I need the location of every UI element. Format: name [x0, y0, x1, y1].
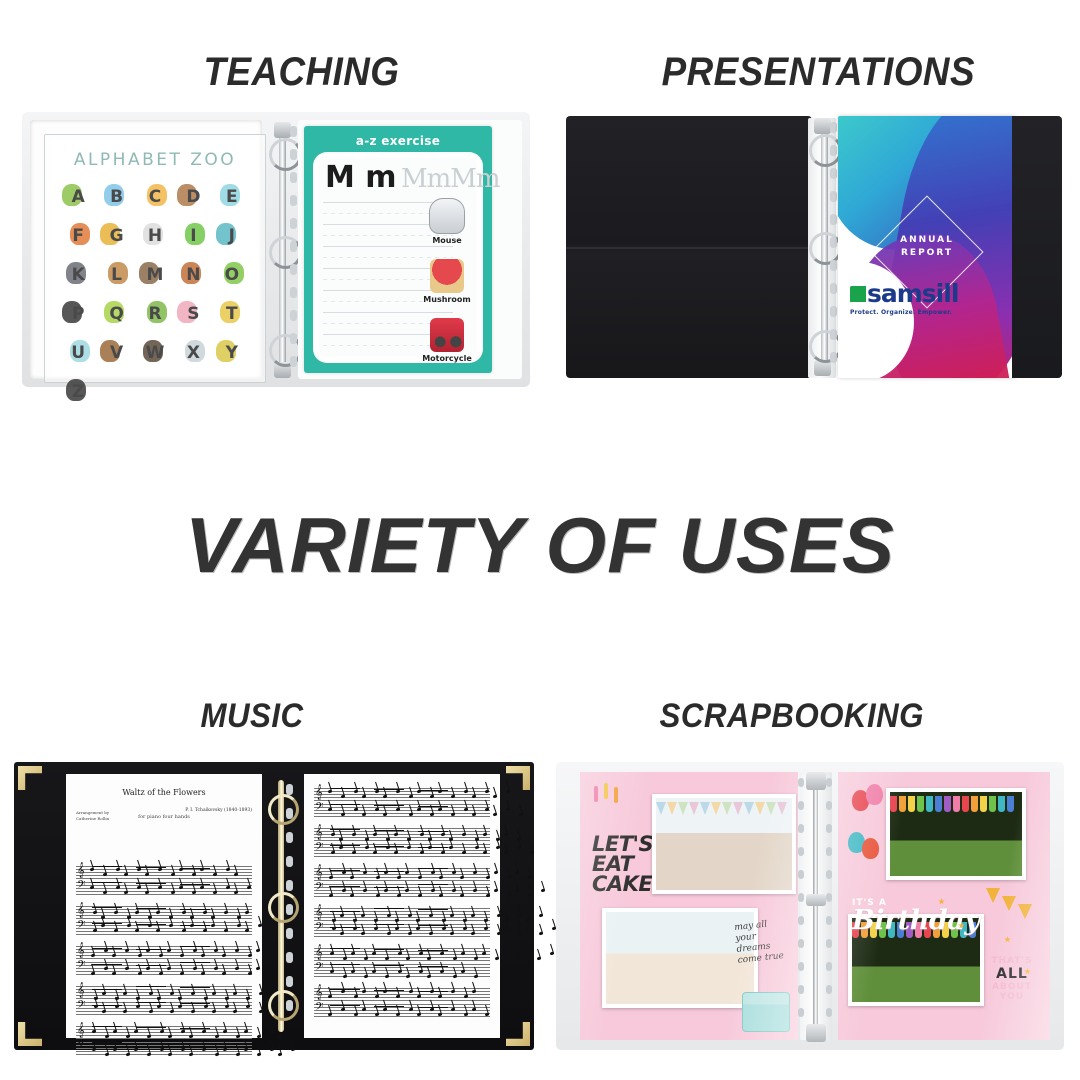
treble-clef-icon: 𝄞: [77, 944, 85, 957]
punch-hole: [830, 191, 837, 202]
binder-ring-3: [268, 990, 299, 1021]
punch-hole: [286, 808, 293, 819]
note-head: [331, 833, 335, 837]
scrapbook-page-right: IT'S A Birthday THAT'S ALL ABOUT YOU: [838, 772, 1050, 1040]
note-beam: [92, 1042, 122, 1043]
note-head: [409, 813, 413, 817]
note-head: [167, 967, 171, 971]
note-head: [494, 889, 498, 893]
punch-hole: [830, 145, 837, 156]
note-head: [463, 927, 467, 931]
note-head: [429, 914, 433, 918]
note-head: [438, 1013, 442, 1017]
note-head: [159, 954, 163, 958]
note-head: [341, 795, 345, 799]
note-head: [291, 1048, 295, 1052]
note-head: [245, 911, 249, 915]
note-beam: [330, 1005, 360, 1006]
note-head: [441, 851, 445, 855]
note-beam: [92, 1005, 122, 1006]
staff-system: 𝄞𝄢: [314, 988, 490, 1022]
staff-system: 𝄞𝄢: [314, 788, 490, 822]
note-head: [486, 876, 490, 880]
page-punch-holes: [286, 784, 294, 1031]
punch-hole: [830, 283, 837, 294]
alphabet-letter: U: [71, 343, 85, 363]
note-head: [398, 970, 402, 974]
punch-hole: [798, 847, 804, 856]
note-head: [398, 952, 402, 956]
samsill-logo-mark-icon: [850, 286, 866, 302]
note-head: [362, 1008, 366, 1012]
note-head: [192, 873, 196, 877]
alphabet-cell-x: X: [175, 334, 211, 371]
note-beam: [374, 830, 404, 831]
note-head: [168, 1053, 172, 1057]
bass-staff: 𝄢: [314, 1004, 490, 1017]
note-head: [156, 929, 160, 933]
note-head: [331, 851, 335, 855]
alphabet-letter-grid: ABCDEFGHIJKLMNOPQRSTUVWXYZ: [52, 170, 258, 410]
note-beam: [92, 866, 122, 867]
note-head: [91, 954, 95, 958]
punch-hole: [830, 352, 837, 363]
binder-ring-1: [268, 794, 299, 825]
note-head: [430, 813, 434, 817]
headline-line-3: CAKE: [592, 874, 653, 894]
bass-staff: 𝄢: [76, 922, 252, 935]
alphabet-cell-w: W: [137, 334, 173, 371]
bunting-flag: [722, 802, 732, 815]
note-head: [427, 957, 431, 961]
note-group: [86, 883, 248, 894]
ring-lever-top[interactable]: [814, 118, 831, 134]
punch-hole: [826, 893, 832, 902]
note-beam: [180, 884, 210, 885]
samsill-wordmark: samsill: [867, 279, 958, 308]
note-group: [324, 845, 486, 856]
punch-hole: [826, 847, 832, 856]
note-beam: [92, 882, 122, 883]
music-binder: Waltz of the Flowers for piano four hand…: [14, 762, 534, 1050]
its-a-birthday-badge: IT'S A Birthday: [852, 898, 979, 934]
alphabet-letter: Y: [226, 343, 238, 363]
page-punch-holes: [290, 126, 298, 373]
mushroom-icon: [430, 259, 464, 293]
note-head: [430, 795, 434, 799]
balloon-sticker-2: [866, 784, 883, 805]
punch-hole: [826, 824, 832, 833]
note-beam: [92, 948, 122, 949]
staff-system: 𝄞𝄢: [314, 948, 490, 982]
vocab-item-motorcycle: Motorcycle: [419, 318, 475, 363]
treble-clef-icon: 𝄞: [77, 984, 85, 997]
note-beam: [330, 989, 360, 990]
bunting-flag: [766, 802, 776, 815]
alphabet-zoo-poster: ALPHABET ZOO ABCDEFGHIJKLMNOPQRSTUVWXYZ: [52, 140, 258, 376]
note-head: [328, 995, 332, 999]
note-beam: [374, 965, 404, 966]
note-beam: [136, 908, 166, 909]
note-head: [439, 876, 443, 880]
alphabet-letter: J: [229, 226, 235, 246]
note-head: [114, 911, 118, 915]
note-head: [182, 911, 186, 915]
note-head: [235, 949, 239, 953]
note-head: [178, 1005, 182, 1009]
note-beam: [180, 1028, 210, 1029]
note-head: [429, 932, 433, 936]
note-beam: [418, 925, 448, 926]
alphabet-cell-d: D: [175, 178, 211, 215]
note-beam: [136, 986, 166, 987]
note-head: [92, 1030, 96, 1034]
note-head: [226, 886, 230, 890]
note-head: [237, 924, 241, 928]
page-punch-holes: [794, 778, 840, 1034]
punch-hole: [290, 126, 297, 137]
punch-hole: [830, 237, 837, 248]
note-head: [474, 975, 478, 979]
note-group: [324, 1005, 486, 1016]
punch-hole: [798, 893, 804, 902]
tassel: [971, 796, 978, 812]
cake-sticker-icon: [742, 992, 790, 1032]
note-head: [179, 886, 183, 890]
note-head: [373, 833, 377, 837]
tassel: [935, 796, 942, 812]
note-head: [419, 952, 423, 956]
treble-staff: 𝄞: [314, 868, 490, 881]
bunting-flag: [700, 802, 710, 815]
note-head: [354, 808, 358, 812]
note-head: [103, 891, 107, 895]
note-head: [203, 929, 207, 933]
alphabet-letter: Z: [72, 382, 84, 402]
bass-staff: 𝄢: [76, 962, 252, 975]
note-beam: [374, 924, 404, 925]
punch-hole: [798, 870, 804, 879]
annual-report-cover: ANNUAL REPORT samsill Protect. Organize.…: [838, 116, 1016, 378]
alphabet-letter: D: [186, 187, 200, 207]
note-head: [125, 967, 129, 971]
staff-system: 𝄞𝄢: [76, 986, 252, 1020]
music-ring-mechanism[interactable]: [260, 770, 304, 1042]
dreams-script-note: may all your dreams come true: [734, 917, 794, 967]
note-head: [373, 851, 377, 855]
note-head: [135, 911, 139, 915]
main-headline: VARIETY OF USES: [0, 500, 1080, 591]
note-beam: [418, 790, 448, 791]
note-beam: [330, 927, 360, 928]
note-head: [102, 1010, 106, 1014]
tassel: [1007, 796, 1014, 812]
note-head: [493, 813, 497, 817]
headline-line-2: EAT: [592, 854, 653, 874]
note-head: [364, 975, 368, 979]
note-head: [394, 833, 398, 837]
vocab-label: Motorcycle: [419, 354, 475, 363]
bass-staff: 𝄢: [76, 1042, 252, 1055]
note-head: [116, 868, 120, 872]
note-head: [351, 952, 355, 956]
note-head: [278, 1053, 282, 1057]
bass-clef-icon: 𝄢: [315, 802, 323, 815]
note-head: [146, 967, 150, 971]
note-head: [420, 851, 424, 855]
bass-clef-icon: 𝄢: [77, 1000, 85, 1013]
treble-clef-icon: 𝄞: [315, 986, 323, 999]
candle-decoration-1: [594, 786, 598, 802]
note-beam: [136, 1002, 166, 1003]
note-head: [189, 1053, 193, 1057]
note-head: [181, 1048, 185, 1052]
note-head: [180, 954, 184, 958]
alphabet-cell-v: V: [98, 334, 134, 371]
note-head: [235, 967, 239, 971]
note-head: [473, 871, 477, 875]
punch-hole: [290, 310, 297, 321]
note-head: [126, 1053, 130, 1057]
bass-clef-icon: 𝄢: [315, 882, 323, 895]
note-beam: [374, 805, 404, 806]
alphabet-letter: F: [72, 226, 84, 246]
punch-hole: [286, 1000, 293, 1011]
note-head: [453, 975, 457, 979]
note-head: [464, 790, 468, 794]
alphabet-letter: K: [72, 265, 85, 285]
alphabet-cell-s: S: [175, 295, 211, 332]
note-head: [149, 992, 153, 996]
note-head: [125, 949, 129, 953]
punch-hole: [826, 778, 832, 787]
treble-staff: 𝄞: [76, 946, 252, 959]
alphabet-letter: A: [72, 187, 85, 207]
staff-system: 𝄞𝄢: [76, 906, 252, 940]
note-head: [431, 889, 435, 893]
note-beam: [330, 911, 360, 912]
bass-staff: 𝄢: [314, 884, 490, 897]
note-head: [215, 1035, 219, 1039]
note-beam: [92, 907, 122, 908]
alphabet-cell-a: A: [60, 178, 96, 215]
treble-clef-icon: 𝄞: [77, 864, 85, 877]
note-head: [145, 891, 149, 895]
note-head: [365, 846, 369, 850]
note-head: [201, 954, 205, 958]
note-head: [387, 932, 391, 936]
alphabet-cell-g: G: [98, 217, 134, 254]
punch-hole: [826, 962, 832, 971]
punch-hole: [290, 195, 297, 206]
note-group: [86, 987, 248, 998]
alphabet-letter: I: [190, 226, 196, 246]
note-beam: [180, 1003, 210, 1004]
teaching-left-page: ALPHABET ZOO ABCDEFGHIJKLMNOPQRSTUVWXYZ: [30, 120, 262, 379]
note-head: [364, 957, 368, 961]
note-head: [372, 970, 376, 974]
note-head: [493, 795, 497, 799]
note-beam: [92, 1026, 122, 1027]
ring-lever-top[interactable]: [274, 122, 291, 138]
sheet-music-composer: P. I. Tchaikovsky (1840-1893): [185, 808, 252, 813]
bunting-flag: [744, 802, 754, 815]
note-beam: [418, 1007, 448, 1008]
scrapbook-ring-mechanism[interactable]: [794, 768, 840, 1044]
az-exercise-worksheet: a-z exercise M m MmMm MouseMushroomMotor…: [304, 126, 492, 373]
note-beam: [374, 789, 404, 790]
teaching-right-page: a-z exercise M m MmMm MouseMushroomMotor…: [298, 120, 522, 379]
pennant-decoration-3: [1018, 904, 1032, 919]
note-head: [376, 876, 380, 880]
bunting-flag: [678, 802, 688, 815]
alphabet-letter: M: [147, 265, 164, 285]
tassel-garland-decoration: [890, 796, 1022, 810]
note-head: [127, 924, 131, 928]
note-beam: [136, 883, 166, 884]
alphabet-cell-e: E: [214, 178, 250, 215]
candle-decoration-3: [614, 787, 618, 803]
note-head: [473, 889, 477, 893]
bunting-flag: [733, 802, 743, 815]
note-beam: [374, 1006, 404, 1007]
note-head: [407, 846, 411, 850]
note-head: [440, 970, 444, 974]
alphabet-letter: G: [110, 226, 124, 246]
note-head: [328, 808, 332, 812]
staff-systems-left: 𝄞𝄢𝄞𝄢𝄞𝄢𝄞𝄢𝄞𝄢: [66, 866, 262, 1060]
note-head: [550, 952, 554, 956]
note-beam: [418, 831, 448, 832]
note-head: [93, 929, 97, 933]
vocab-label: Mouse: [419, 236, 475, 245]
staff-system: 𝄞𝄢: [76, 866, 252, 900]
vocab-label: Mushroom: [419, 295, 475, 304]
note-beam: [136, 924, 166, 925]
lets-eat-cake-headline: LET'S EAT CAKE: [592, 834, 653, 894]
note-beam: [330, 964, 360, 965]
punch-hole: [830, 329, 837, 340]
staff-system: 𝄞𝄢: [76, 1026, 252, 1060]
punch-hole: [286, 976, 293, 987]
punch-hole: [798, 1008, 804, 1017]
note-head: [449, 846, 453, 850]
note-head: [236, 1053, 240, 1057]
bunting-flag: [755, 802, 765, 815]
note-head: [93, 911, 97, 915]
note-group: [324, 829, 486, 840]
note-head: [113, 1048, 117, 1052]
punch-hole: [290, 172, 297, 183]
treble-clef-icon: 𝄞: [315, 906, 323, 919]
bass-staff: 𝄢: [76, 1002, 252, 1015]
note-head: [215, 1053, 219, 1057]
note-head: [193, 967, 197, 971]
note-head: [472, 795, 476, 799]
note-head: [270, 1048, 274, 1052]
note-head: [202, 1030, 206, 1034]
note-head: [200, 886, 204, 890]
note-head: [354, 1013, 358, 1017]
bass-staff: 𝄢: [314, 964, 490, 977]
computer-mouse-icon: [429, 198, 465, 234]
staff-system: 𝄞𝄢: [314, 828, 490, 862]
note-head: [471, 932, 475, 936]
note-head: [114, 929, 118, 933]
note-head: [244, 1030, 248, 1034]
punch-hole: [830, 168, 837, 179]
tassel: [890, 796, 897, 812]
alphabet-letter: T: [226, 304, 238, 324]
note-head: [464, 808, 468, 812]
note-head: [396, 995, 400, 999]
note-head: [212, 992, 216, 996]
tassel: [962, 796, 969, 812]
note-head: [352, 833, 356, 837]
punch-hole: [286, 928, 293, 939]
note-beam: [418, 806, 448, 807]
note-head: [341, 1008, 345, 1012]
punch-hole: [290, 264, 297, 275]
punch-hole: [826, 1008, 832, 1017]
sheet-music-arranger: Arrangement by Catherine Rollin: [76, 810, 109, 822]
note-group: [324, 805, 486, 816]
note-beam: [330, 804, 360, 805]
punch-hole: [798, 962, 804, 971]
note-head: [451, 990, 455, 994]
punch-hole: [286, 952, 293, 963]
note-head: [204, 1005, 208, 1009]
note-beam: [180, 962, 210, 963]
note-head: [168, 1035, 172, 1039]
note-head: [343, 957, 347, 961]
alphabet-letter: N: [186, 265, 200, 285]
bass-staff: 𝄢: [314, 804, 490, 817]
note-beam: [330, 870, 360, 871]
annual-report-line2: REPORT: [900, 247, 954, 260]
note-beam: [418, 950, 448, 951]
note-head: [191, 992, 195, 996]
tassel: [998, 796, 1005, 812]
tassel: [944, 796, 951, 812]
note-head: [223, 1048, 227, 1052]
note-head: [383, 1008, 387, 1012]
staff-system: 𝄞𝄢: [314, 908, 490, 942]
alphabet-cell-f: F: [60, 217, 96, 254]
note-head: [452, 871, 456, 875]
bass-clef-icon: 𝄢: [77, 920, 85, 933]
tassel: [908, 796, 915, 812]
note-head: [236, 1035, 240, 1039]
note-group: [86, 963, 248, 974]
note-head: [474, 957, 478, 961]
note-beam: [180, 868, 210, 869]
note-head: [136, 1005, 140, 1009]
note-head: [431, 871, 435, 875]
note-head: [226, 868, 230, 872]
alphabet-zoo-title: ALPHABET ZOO: [52, 150, 258, 170]
alphabet-cell-m: M: [137, 256, 173, 293]
note-head: [211, 924, 215, 928]
note-head: [124, 873, 128, 877]
note-head: [102, 992, 106, 996]
note-head: [409, 990, 413, 994]
note-group: [86, 923, 248, 934]
alphabet-cell-c: C: [137, 178, 173, 215]
note-group: [324, 909, 486, 920]
punch-hole: [290, 287, 297, 298]
note-head: [135, 929, 139, 933]
